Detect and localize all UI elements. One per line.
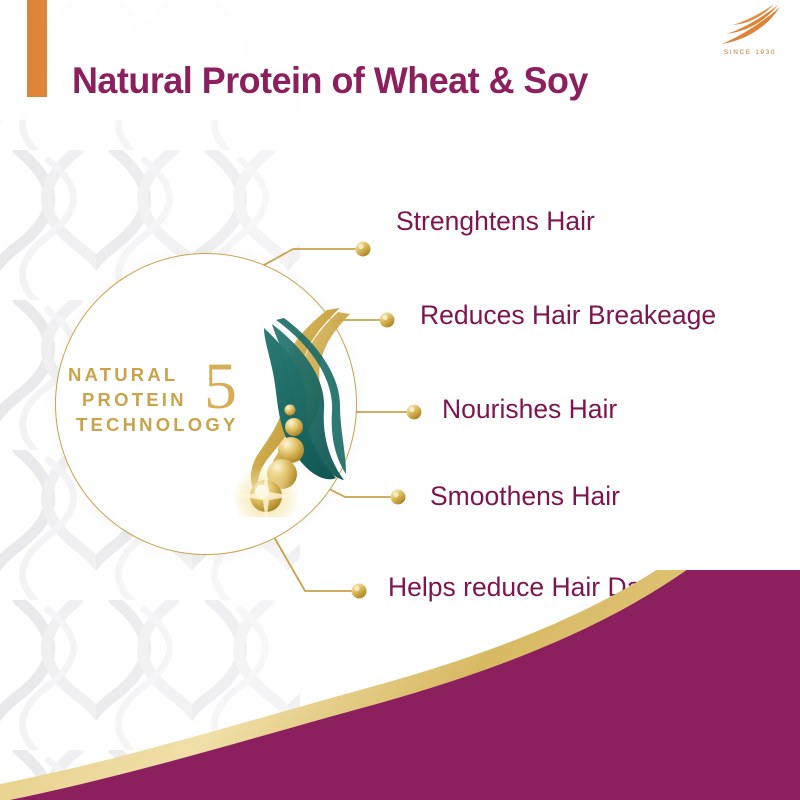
natural-protein-badge: NATURAL PROTEIN TECHNOLOGY 5 [55, 253, 357, 555]
connector-dots [352, 242, 422, 599]
brand-logo: SINCE 1930 [710, 4, 790, 62]
benefit-label-4: Smoothens Hair [430, 481, 620, 512]
benefit-label-3: Nourishes Hair [442, 394, 617, 425]
badge-number-five: 5 [204, 354, 237, 420]
dna-helix-icon [232, 302, 362, 517]
orange-accent-bar [27, 0, 47, 97]
benefit-label-1: Strenghtens Hair [396, 206, 595, 237]
dna-helix-illustration [232, 302, 362, 517]
infographic-poster: Natural Protein of Wheat & Soy SINCE 193… [0, 0, 800, 800]
benefit-label-2: Reduces Hair Breakeage [420, 300, 716, 331]
brand-since-label: SINCE 1930 [710, 49, 790, 56]
flame-leaf-logo-icon [710, 4, 790, 48]
bottom-wave-decoration [0, 570, 800, 800]
page-title: Natural Protein of Wheat & Soy [72, 60, 588, 102]
